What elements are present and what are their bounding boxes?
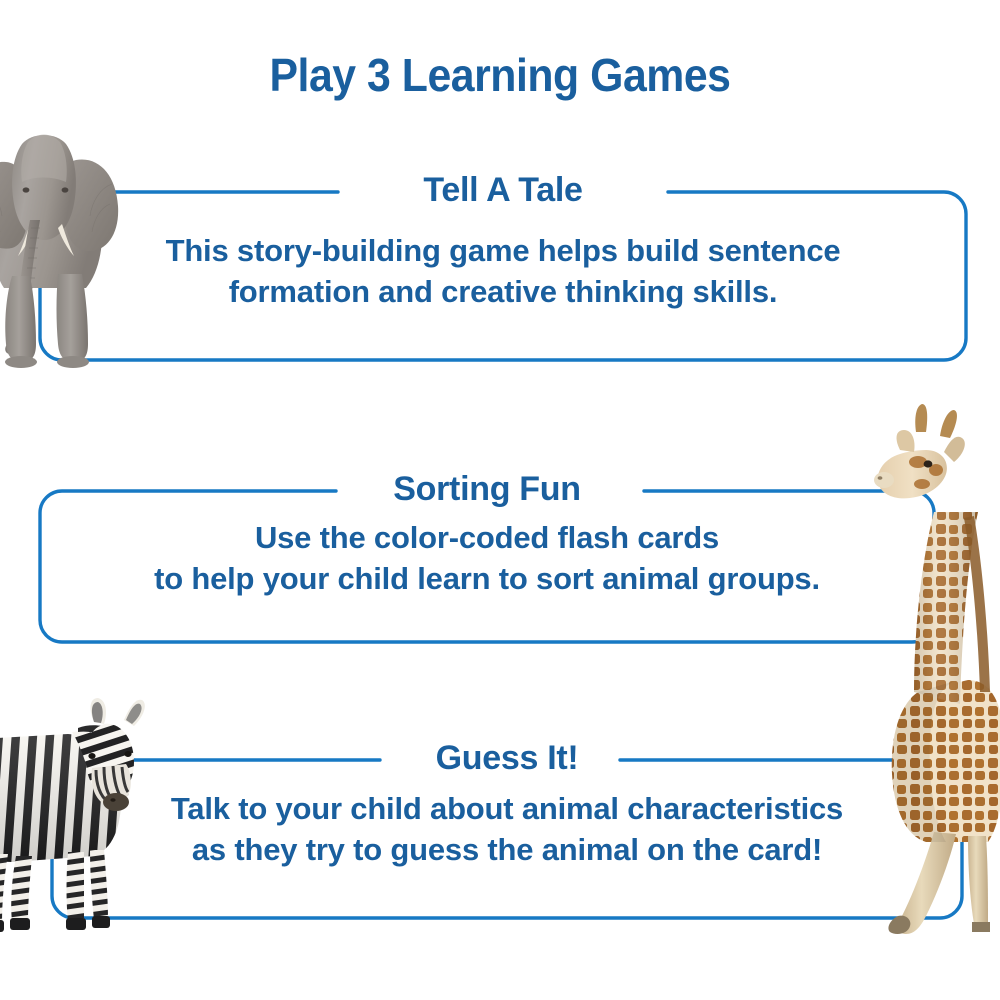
card-body-line: as they try to guess the animal on the c… [50, 829, 964, 870]
giraffe-ossicone-right [940, 410, 957, 438]
card-title-wrap-tell-a-tale: Tell A Tale [38, 171, 968, 209]
zebra-leg-front-left [67, 852, 85, 922]
giraffe-ear-right [944, 437, 965, 462]
card-body-line: Use the color-coded flash cards [38, 517, 936, 558]
zebra-leg-front-right [90, 850, 108, 920]
zebra-leg-rear-right [11, 856, 32, 922]
elephant-leg-front-left [5, 276, 36, 362]
zebra-ear-left-inner [92, 702, 103, 723]
game-card-guess-it: Guess It! Talk to your child about anima… [50, 758, 964, 920]
card-title-wrap-guess-it: Guess It! [50, 739, 964, 777]
giraffe-nostril [878, 476, 883, 480]
page-title: Play 3 Learning Games [35, 48, 965, 102]
elephant-leg-front-right [57, 274, 89, 362]
zebra-eye-right [124, 751, 131, 757]
card-title-sorting-fun: Sorting Fun [377, 470, 596, 508]
giraffe-muzzle [874, 472, 894, 488]
card-body-line: to help your child learn to sort animal … [38, 558, 936, 599]
giraffe-leg-rear [968, 836, 988, 924]
elephant-foot-left [5, 356, 37, 368]
zebra-leg-rear-left [0, 854, 8, 924]
game-card-sorting-fun: Sorting Fun Use the color-coded flash ca… [38, 489, 936, 644]
card-body-line: This story-building game helps build sen… [38, 230, 968, 271]
card-body-tell-a-tale: This story-building game helps build sen… [38, 230, 968, 312]
giraffe-ear-left [897, 430, 915, 452]
zebra-hooves [0, 916, 110, 932]
card-body-guess-it: Talk to your child about animal characte… [50, 788, 964, 870]
giraffe-eye [924, 460, 933, 467]
giraffe-mane [964, 516, 990, 692]
card-title-guess-it: Guess It! [420, 739, 595, 777]
card-body-sorting-fun: Use the color-coded flash cards to help … [38, 517, 936, 599]
zebra-photo [0, 672, 152, 938]
giraffe-ossicone-left [915, 404, 927, 432]
zebra-muzzle [103, 793, 129, 811]
elephant-eye-left [23, 187, 30, 192]
card-body-line: Talk to your child about animal characte… [50, 788, 964, 829]
zebra-nostril [110, 798, 115, 802]
card-title-tell-a-tale: Tell A Tale [407, 171, 598, 209]
giraffe-photo [856, 392, 1000, 937]
elephant-foot-right [57, 356, 89, 368]
card-body-line: formation and creative thinking skills. [38, 271, 968, 312]
game-card-tell-a-tale: Tell A Tale This story-building game hel… [38, 190, 968, 362]
elephant-eye-right [62, 187, 69, 192]
zebra-eye-left [88, 753, 95, 759]
elephant-photo [0, 116, 132, 368]
card-title-wrap-sorting-fun: Sorting Fun [38, 470, 936, 508]
giraffe-hoof-rear [972, 922, 990, 932]
promo-graphic: Play 3 Learning Games Tell A Tale This s… [0, 0, 1000, 1000]
